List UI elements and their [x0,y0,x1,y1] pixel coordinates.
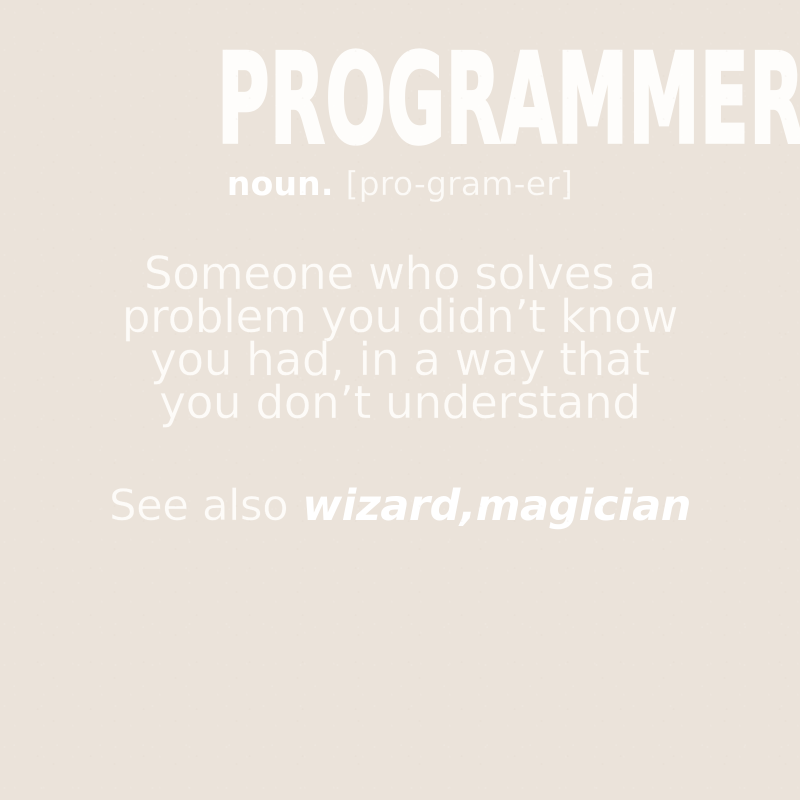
pronunciation-label: [pro-gram-er] [346,164,574,203]
see-also-block: See alsowizard,magician [0,480,800,532]
poster-canvas: PROGRAMMER noun.[pro-gram-er] Someone wh… [0,0,800,800]
definition-line: you don’t understand [0,381,800,424]
page-title: PROGRAMMER [217,44,800,156]
definition-block: Someone who solves a problem you didn’t … [0,252,800,424]
definition-line: Someone who solves a [0,252,800,295]
definition-line: you had, in a way that [0,338,800,381]
see-also-terms: wizard,magician [302,481,691,531]
subtitle-block: noun.[pro-gram-er] [0,164,800,204]
part-of-speech-label: noun. [227,164,334,203]
see-also-label: See also [109,481,288,531]
definition-line: problem you didn’t know [0,295,800,338]
title-block: PROGRAMMER [0,44,800,156]
